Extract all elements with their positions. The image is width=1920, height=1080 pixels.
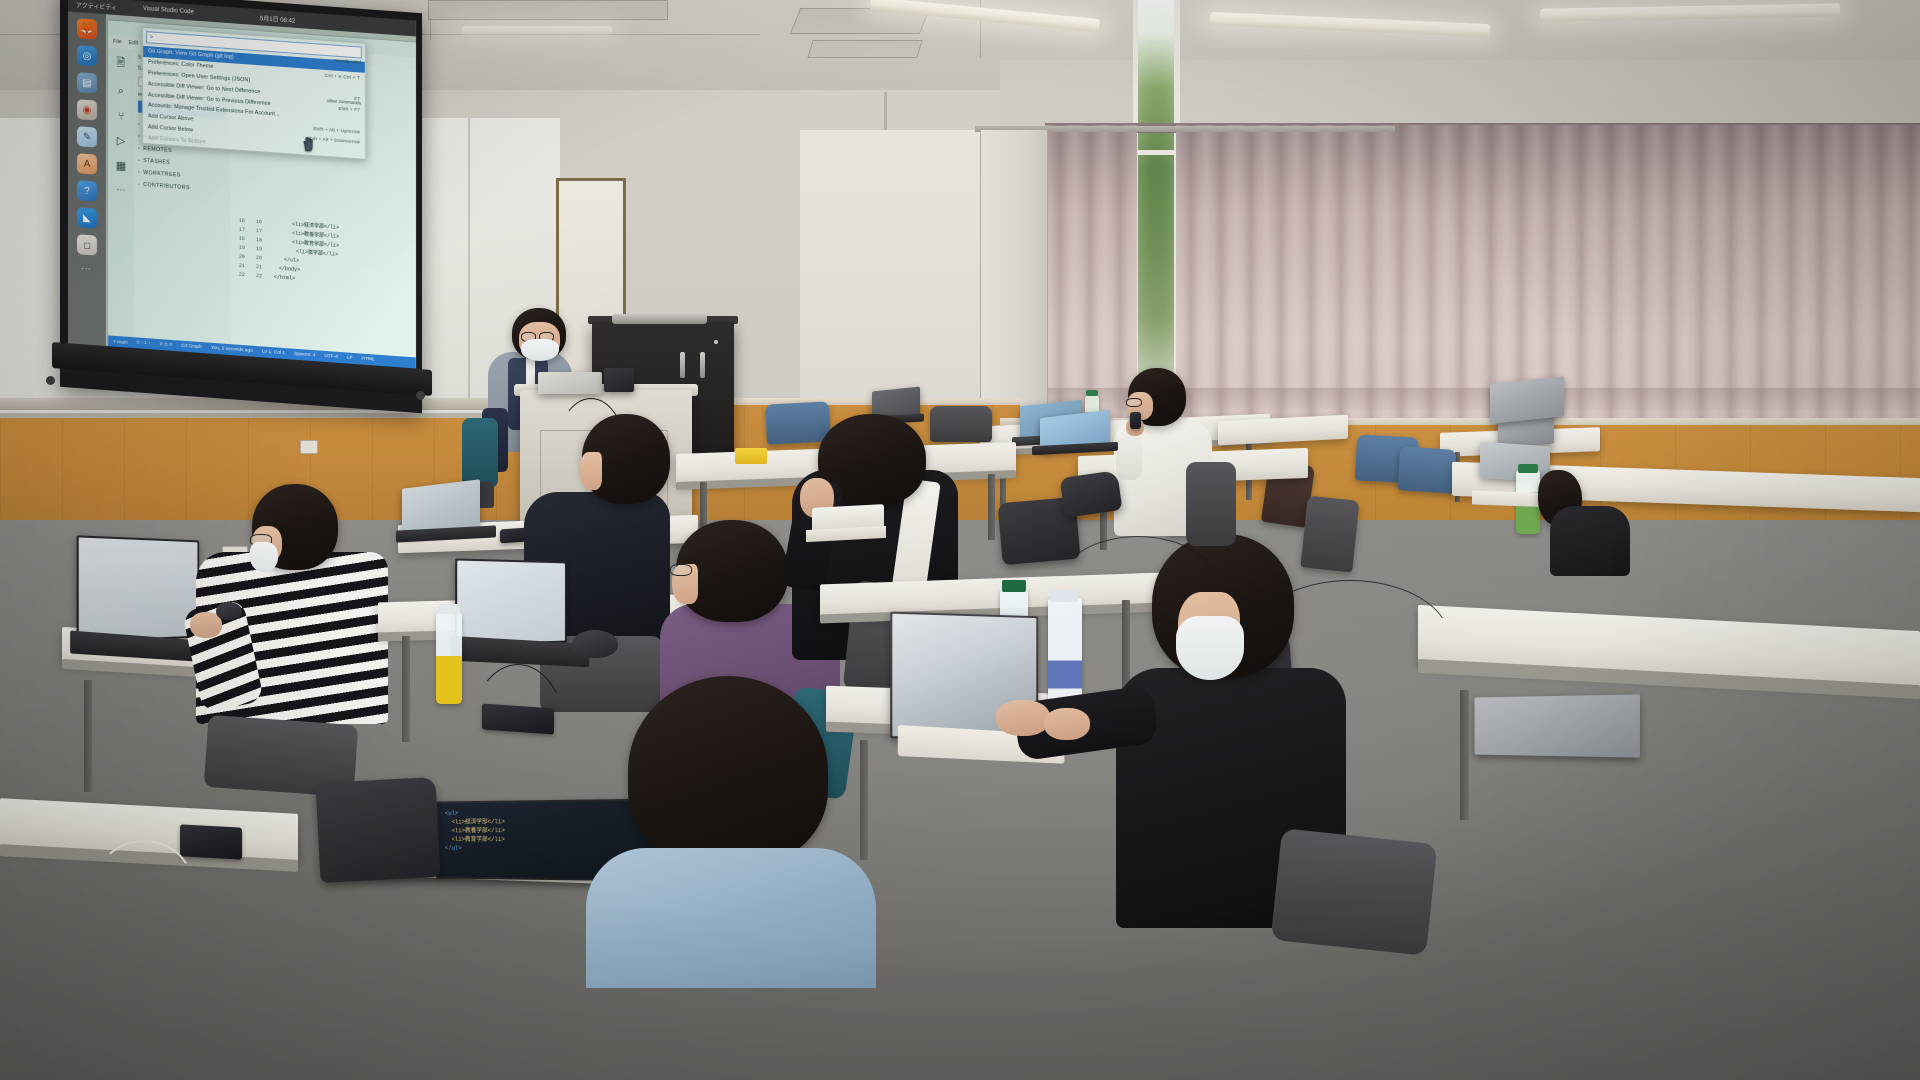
- chevron-right-icon: ›: [138, 134, 140, 140]
- activities-label[interactable]: アクティビティ: [76, 0, 117, 12]
- laptop-bottom-far-right[interactable]: [1475, 694, 1640, 757]
- palette-item-label: Add Cursors To Bottom: [148, 135, 206, 145]
- laptop-lectern-1[interactable]: [538, 372, 602, 394]
- palette-item-keys: Shift + Alt + UpArrow: [313, 126, 360, 134]
- text-editor-icon[interactable]: ✎: [77, 126, 97, 147]
- vscode-icon[interactable]: ◣: [77, 207, 97, 228]
- phone-foreground-left[interactable]: [180, 824, 242, 859]
- bag-on-chair[interactable]: [1059, 470, 1122, 518]
- cabinet-handle[interactable]: [700, 352, 705, 378]
- palette-item-keys: Ctrl + K Ctrl + T: [325, 73, 360, 81]
- ceiling-light: [462, 26, 612, 35]
- chevron-right-icon: ›: [138, 170, 140, 176]
- window-greenery: [1137, 0, 1177, 400]
- bottle-cap: [438, 604, 460, 614]
- status-position[interactable]: Ln 1, Col 1: [262, 349, 285, 356]
- mouse-cursor-hand-icon: [302, 136, 314, 152]
- sidebar-label-remotes: REMOTES: [143, 146, 172, 154]
- student-purple-glasses: [670, 564, 692, 576]
- palette-item-label: Add Cursor Above: [148, 113, 193, 122]
- window-mullion: [1135, 150, 1177, 155]
- yellow-sports-drink-bottle[interactable]: [436, 612, 462, 704]
- chevron-right-icon: ›: [138, 146, 140, 152]
- laptop-center-front-display: [457, 561, 565, 644]
- palette-item-keys: Shift + F7: [338, 106, 360, 113]
- status-git-graph[interactable]: Git Graph: [181, 344, 202, 350]
- bottle-cap: [1002, 580, 1026, 592]
- more-icon[interactable]: ⋯: [117, 184, 126, 196]
- student-black-hoodie-mask: [1176, 616, 1244, 680]
- ceiling-vent: [428, 0, 668, 20]
- palette-item-label: Add Cursor Below: [148, 124, 193, 133]
- desk-leg: [1460, 690, 1469, 820]
- chevron-right-icon: ›: [138, 122, 140, 128]
- desk-leg: [988, 474, 995, 540]
- laptop-front-left-display: [79, 537, 198, 640]
- status-encoding[interactable]: UTF-8: [324, 354, 338, 360]
- laptop-lectern-2[interactable]: [604, 368, 634, 392]
- chair-black-hoodie-student[interactable]: [1271, 828, 1438, 956]
- chair-blue[interactable]: [765, 401, 831, 444]
- instructor-mask: [521, 339, 559, 361]
- status-branch[interactable]: ⑂ main: [113, 338, 128, 345]
- projected-desktop: アクティビティ Visual Studio Code 5月1日 08:42 🦊 …: [68, 0, 416, 368]
- chevron-right-icon: ›: [138, 182, 140, 188]
- explorer-icon[interactable]: 🗎: [117, 54, 126, 74]
- menu-file[interactable]: File: [113, 39, 122, 46]
- sidebar-label-contributors: CONTRIBUTORS: [143, 182, 190, 191]
- search-icon[interactable]: ⌕: [118, 85, 124, 98]
- firefox-icon[interactable]: 🦊: [77, 18, 97, 39]
- os-dock: 🦊 ◎ ▤ ◉ ✎ A ? ◣ ▢ ⋯: [68, 12, 106, 347]
- chair-dark[interactable]: [1300, 495, 1359, 572]
- student-black-hoodie-hand-right: [1044, 708, 1090, 740]
- instructor-chair[interactable]: [462, 418, 498, 488]
- student-white-shirt-glasses: [1126, 398, 1142, 407]
- laptop-far-right-back[interactable]: [1490, 376, 1564, 424]
- smartphone-in-hand[interactable]: [1130, 412, 1141, 429]
- student-navy-ear-face: [580, 452, 602, 490]
- student-striped-mask: [250, 542, 278, 572]
- extensions-icon[interactable]: ▦: [116, 159, 126, 173]
- run-debug-icon[interactable]: ▷: [117, 134, 125, 148]
- desk-leg: [860, 740, 868, 860]
- line-number-new: 22: [251, 272, 262, 282]
- terminal-icon[interactable]: ▢: [77, 234, 97, 255]
- screen-knob: [416, 391, 425, 400]
- sidebar-label-stashes: STASHES: [143, 158, 170, 166]
- status-problems[interactable]: 0 ⚠ 0: [160, 342, 172, 348]
- menu-edit[interactable]: Edit: [129, 40, 138, 47]
- dock-more-icon[interactable]: ⋯: [81, 263, 93, 275]
- mouse-left[interactable]: [216, 602, 242, 620]
- student-far-right-torso: [1550, 506, 1630, 576]
- files-icon[interactable]: ▤: [77, 72, 97, 93]
- screen-knob: [46, 376, 55, 385]
- bottle-cap: [1050, 590, 1078, 602]
- source-control-icon[interactable]: ⑂: [118, 110, 125, 122]
- classroom-scene: アクティビティ Visual Studio Code 5月1日 08:42 🦊 …: [0, 0, 1920, 1080]
- laptop-center-front[interactable]: [455, 558, 567, 645]
- app-name-label[interactable]: Visual Studio Code: [143, 6, 194, 16]
- backpack-foreground[interactable]: [315, 777, 440, 883]
- disc-icon[interactable]: ◉: [77, 99, 97, 120]
- chair-blue[interactable]: [1398, 446, 1457, 494]
- cabinet-handle[interactable]: [680, 352, 685, 378]
- student-foreground-head: [628, 676, 828, 866]
- whiteboard-divider: [468, 118, 470, 408]
- mouse-center[interactable]: [572, 630, 618, 658]
- water-bottle[interactable]: [1048, 598, 1082, 706]
- browser-icon[interactable]: ◎: [77, 45, 97, 66]
- ceiling-vent: [807, 40, 922, 58]
- clock-label: 5月1日 08:42: [260, 13, 295, 25]
- desk-leg: [1122, 600, 1130, 692]
- chevron-right-icon: ›: [138, 158, 140, 164]
- status-language[interactable]: HTML: [362, 357, 375, 363]
- bottle-cap: [1086, 390, 1098, 396]
- snack-package[interactable]: [735, 448, 767, 464]
- bottle-cap: [1518, 464, 1538, 473]
- sidebar-label-worktrees: WORKTREES: [143, 170, 180, 179]
- help-icon[interactable]: ?: [77, 180, 97, 201]
- wall-outlet[interactable]: [300, 440, 318, 454]
- cabinet-keyhole: [714, 340, 718, 344]
- status-spaces[interactable]: Spaces: 4: [294, 352, 315, 359]
- status-history[interactable]: You, 2 seconds ago: [211, 346, 253, 354]
- status-sync[interactable]: 0 ↓ 1 ↑: [137, 340, 151, 346]
- cables-on-cabinet: [612, 314, 707, 324]
- chair-dark[interactable]: [930, 406, 992, 442]
- vscode-activity-bar: 🗎 ⌕ ⑂ ▷ ▦ ⋯ ◯: [108, 47, 134, 348]
- student-black-hoodie-hand-left: [996, 700, 1050, 736]
- code-text: </html>: [274, 273, 295, 284]
- command-palette: > Git Graph: View Git Graph (git log) Pr…: [142, 27, 366, 160]
- desk-leg: [84, 680, 92, 792]
- chair-back-right[interactable]: [1186, 462, 1236, 546]
- laptop-front-left[interactable]: [77, 535, 200, 642]
- student-foreground-torso: [586, 848, 876, 988]
- wall-panel: [800, 130, 985, 430]
- status-eol[interactable]: LF: [347, 356, 353, 361]
- desk-leg: [402, 636, 410, 742]
- line-number-old: 22: [234, 270, 245, 280]
- software-center-icon[interactable]: A: [77, 153, 97, 174]
